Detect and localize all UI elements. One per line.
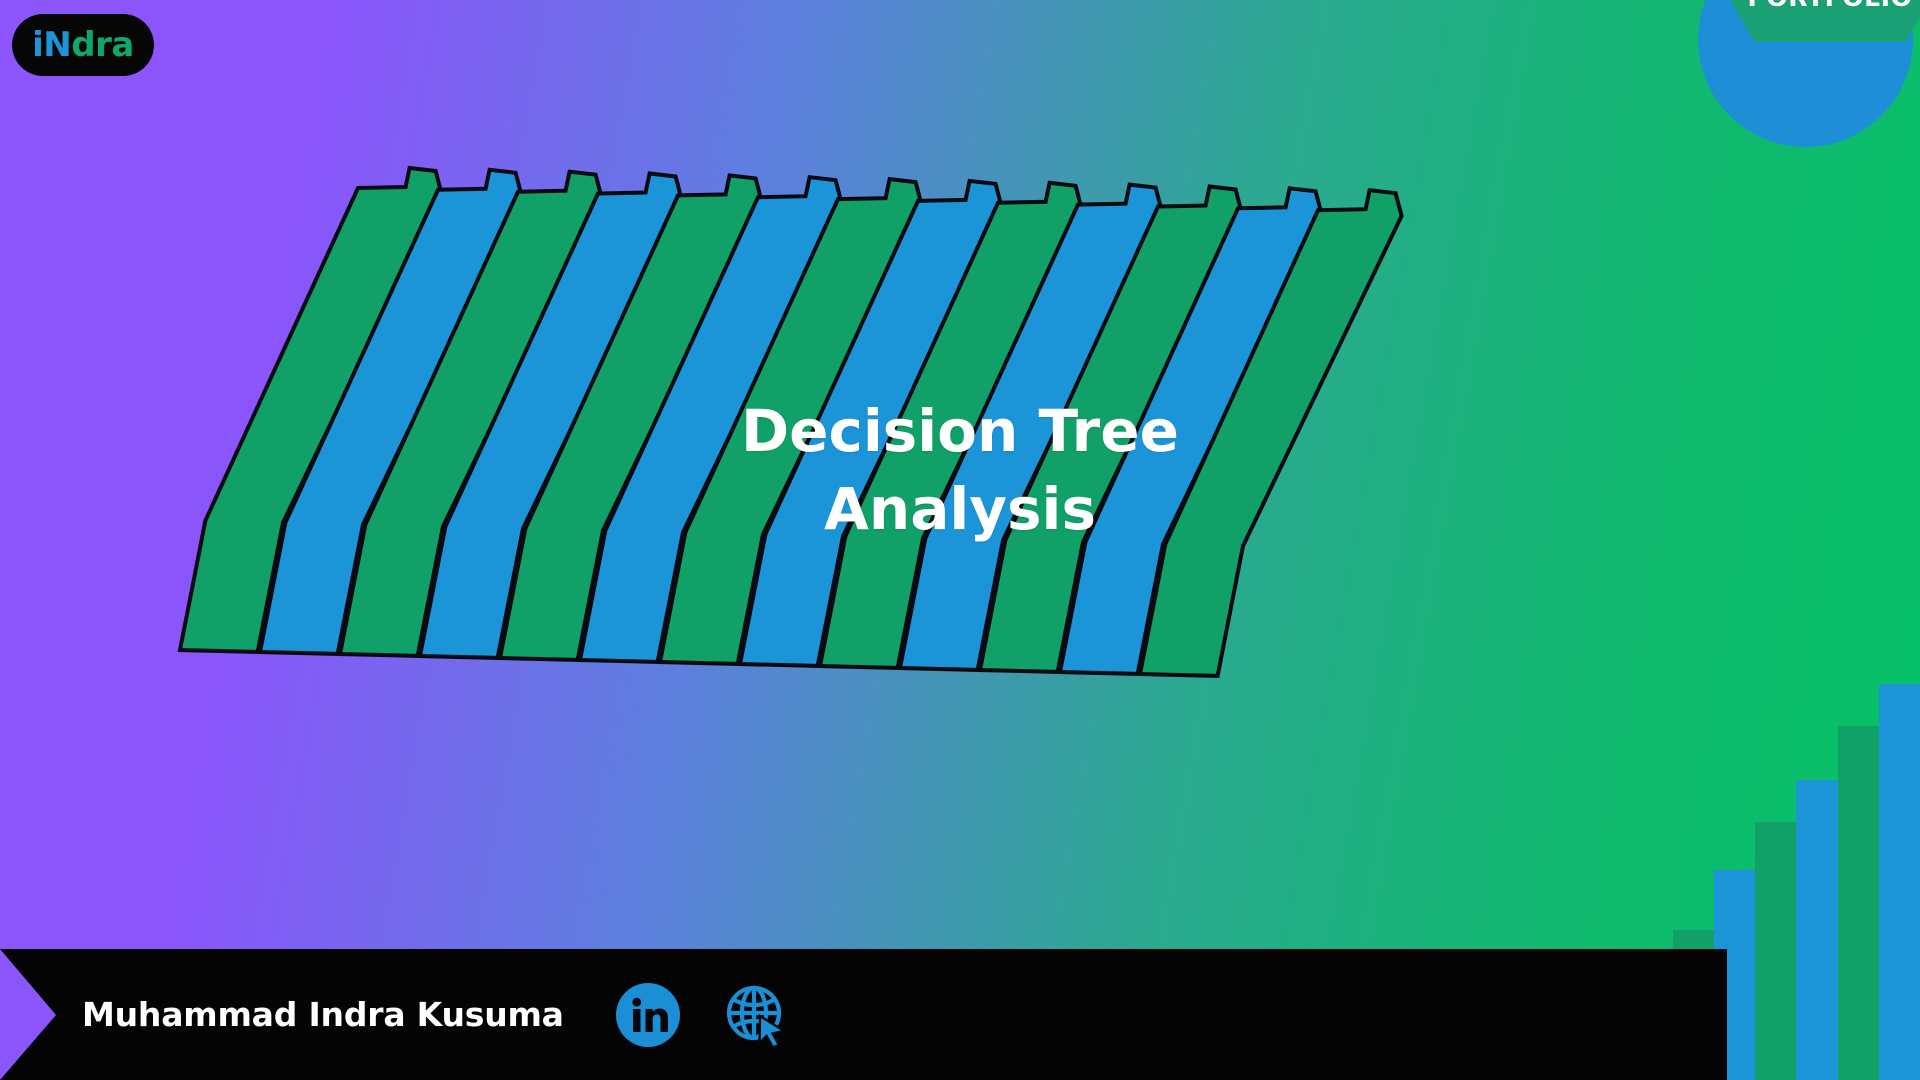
brand-logo-text: iNdra (32, 28, 134, 62)
chart-bar (1838, 726, 1879, 1080)
website-globe-icon[interactable] (724, 983, 788, 1047)
brand-logo-part2: dra (71, 25, 134, 65)
portfolio-badge[interactable]: PORTFOLIO (1698, 0, 1920, 117)
footer-content: Muhammad Indra Kusuma (0, 949, 1727, 1080)
chart-bar (1755, 822, 1796, 1080)
slide-title: Decision Tree Analysis (0, 392, 1920, 549)
badge-label: PORTFOLIO (1712, 0, 1920, 42)
author-name: Muhammad Indra Kusuma (82, 995, 564, 1034)
brand-logo[interactable]: iNdra (12, 14, 154, 76)
chart-bar (1879, 684, 1920, 1080)
chart-bar (1796, 780, 1837, 1080)
linkedin-icon[interactable] (616, 983, 680, 1047)
brand-logo-part1: iN (32, 25, 71, 65)
social-links (616, 983, 788, 1047)
